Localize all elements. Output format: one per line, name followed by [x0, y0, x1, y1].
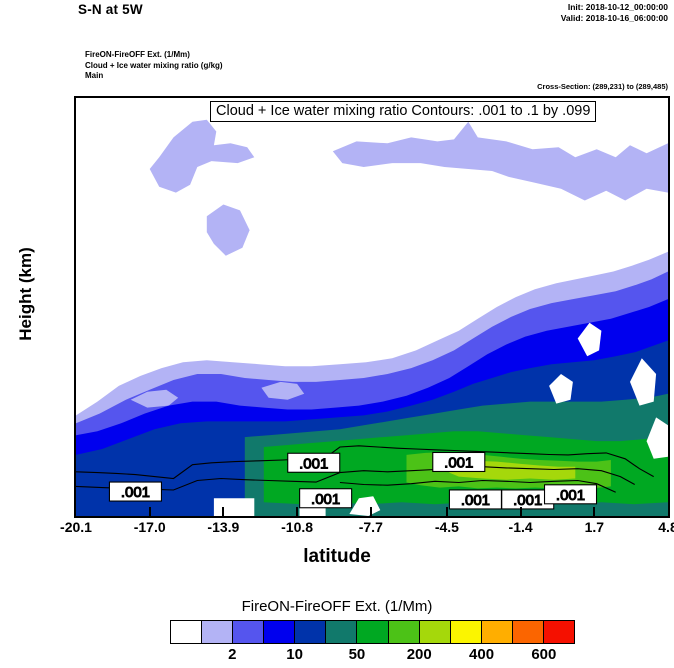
plot-area: .001.001.001.001.001.001.001 [74, 96, 670, 518]
contour-label: .001 [545, 485, 597, 504]
x-tick-label: -10.8 [281, 519, 313, 535]
x-tick-label: 4.8 [658, 519, 674, 535]
svg-text:.001: .001 [299, 455, 328, 472]
contour-band [207, 205, 250, 256]
x-tick-label: -13.9 [207, 519, 239, 535]
x-tick-label: 1.7 [585, 519, 604, 535]
colorbar-swatch[interactable] [389, 621, 420, 643]
colorbar-swatch[interactable] [202, 621, 233, 643]
contour-label: .001 [433, 452, 485, 471]
colorbar-swatch[interactable] [171, 621, 202, 643]
x-tick-mark [222, 507, 224, 516]
svg-text:.001: .001 [444, 454, 473, 471]
contour-band [333, 122, 668, 201]
svg-text:.001: .001 [461, 492, 490, 509]
x-tick-label: -20.1 [60, 519, 92, 535]
x-tick-label: -17.0 [134, 519, 166, 535]
x-tick-mark [520, 507, 522, 516]
contour-label: .001 [449, 490, 501, 509]
contour-label: .001 [300, 489, 352, 508]
colorbar[interactable] [170, 620, 575, 644]
colorbar-swatch[interactable] [264, 621, 295, 643]
colorbar-tick-label: 400 [469, 646, 494, 663]
colorbar-tick-label: 50 [349, 646, 366, 663]
svg-text:.001: .001 [121, 484, 150, 501]
colorbar-tick-label: 2 [228, 646, 236, 663]
colorbar-tick-label: 600 [531, 646, 556, 663]
contour-label: .001 [288, 453, 340, 472]
contour-band [150, 120, 255, 193]
x-tick-mark [296, 507, 298, 516]
colorbar-title: FireON-FireOFF Ext. (1/Mm) [0, 598, 674, 615]
colorbar-swatch[interactable] [482, 621, 513, 643]
contour-band [214, 498, 254, 516]
svg-text:.001: .001 [513, 492, 542, 509]
svg-text:.001: .001 [556, 487, 585, 504]
x-tick-label: -1.4 [509, 519, 533, 535]
x-tick-mark [593, 507, 595, 516]
contour-label: .001 [109, 482, 161, 501]
contour-field: .001.001.001.001.001.001.001 [76, 98, 668, 516]
colorbar-swatch[interactable] [513, 621, 544, 643]
colorbar-tick-label: 10 [286, 646, 303, 663]
x-tick-mark [370, 507, 372, 516]
colorbar-swatch[interactable] [357, 621, 388, 643]
colorbar-swatch[interactable] [451, 621, 482, 643]
colorbar-swatch[interactable] [544, 621, 574, 643]
colorbar-swatch[interactable] [233, 621, 264, 643]
x-tick-label: -7.7 [359, 519, 383, 535]
svg-text:.001: .001 [311, 491, 340, 508]
x-axis-title: latitude [0, 546, 674, 568]
contour-title: Cloud + Ice water mixing ratio Contours:… [210, 101, 596, 122]
x-tick-label: -4.5 [435, 519, 459, 535]
x-tick-mark [446, 507, 448, 516]
colorbar-swatch[interactable] [295, 621, 326, 643]
colorbar-swatch[interactable] [326, 621, 357, 643]
x-tick-mark [149, 507, 151, 516]
colorbar-swatch[interactable] [420, 621, 451, 643]
colorbar-tick-label: 200 [407, 646, 432, 663]
